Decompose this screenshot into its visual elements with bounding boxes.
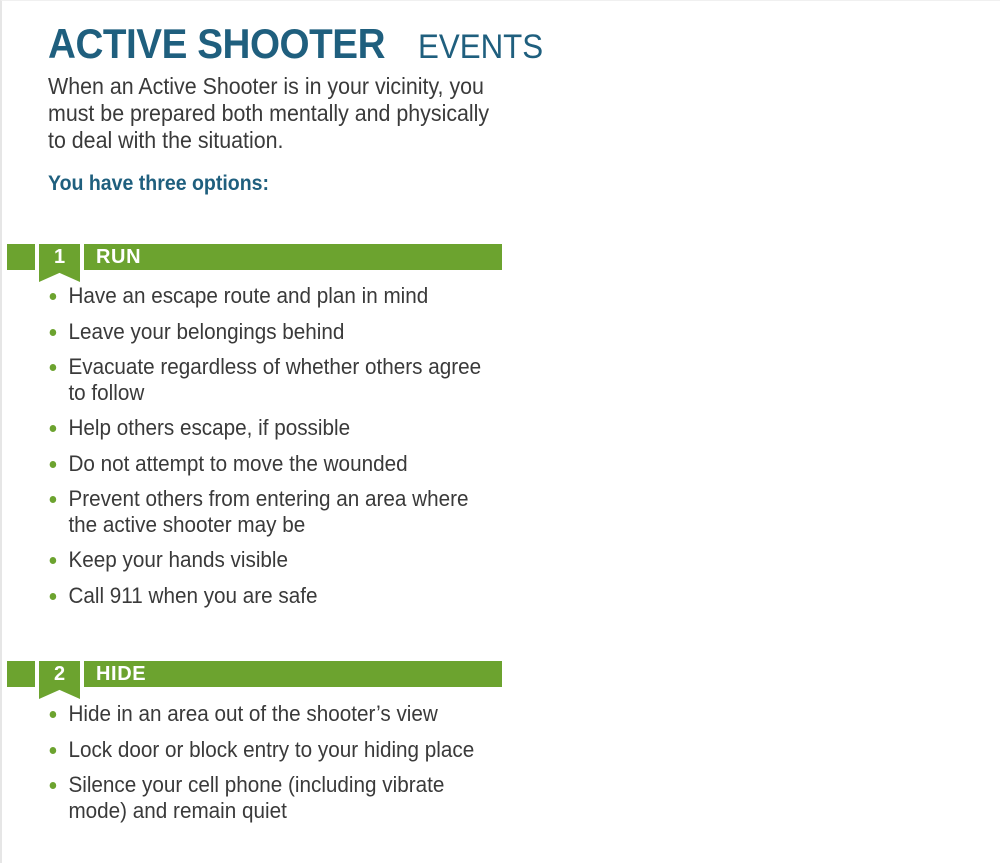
- list-item: Call 911 when you are safe: [44, 583, 486, 609]
- section-header-hide: 2 HIDE: [2, 661, 502, 687]
- section-number-badge-hide: 2: [39, 661, 80, 699]
- bullet-dot-icon: [50, 747, 57, 754]
- options-heading: You have three options:: [48, 172, 462, 196]
- page-subtitle: When an Active Shooter is in your vicini…: [48, 73, 491, 154]
- list-item: Leave your belongings behind: [44, 319, 486, 345]
- right-column: FIGHT 3 Fight as a last resort and only …: [502, 1, 1000, 863]
- bullet-dot-icon: [50, 496, 57, 503]
- list-item: Do not attempt to move the wounded: [44, 451, 486, 477]
- bullet-dot-icon: [50, 593, 57, 600]
- list-item-text: Lock door or block entry to your hiding …: [68, 737, 474, 762]
- list-item: Lock door or block entry to your hiding …: [44, 737, 486, 763]
- section-header-run: 1 RUN: [2, 244, 502, 270]
- bullet-dot-icon: [50, 329, 57, 336]
- bullet-dot-icon: [50, 711, 57, 718]
- list-item-text: Silence your cell phone (including vibra…: [68, 772, 444, 823]
- list-item: Prevent others from entering an area whe…: [44, 486, 486, 537]
- list-item-text: Prevent others from entering an area whe…: [68, 486, 468, 537]
- bullet-list-run: Have an escape route and plan in mind Le…: [44, 283, 514, 618]
- bullet-dot-icon: [50, 557, 57, 564]
- infographic-page: ACTIVE SHOOTEREVENTS When an Active Shoo…: [0, 0, 1000, 863]
- list-item-text: Hide in an area out of the shooter’s vie…: [68, 701, 437, 726]
- list-item: Evacuate regardless of whether others ag…: [44, 354, 486, 405]
- list-item-text: Help others escape, if possible: [68, 415, 350, 440]
- list-item-text: Do not attempt to move the wounded: [68, 451, 407, 476]
- list-item: Silence your cell phone (including vibra…: [44, 772, 486, 823]
- accent-square-icon: [7, 244, 35, 270]
- list-item-text: Call 911 when you are safe: [68, 583, 317, 608]
- section-label-hide: HIDE: [84, 661, 502, 687]
- list-item-text: Have an escape route and plan in mind: [68, 283, 428, 308]
- bullet-dot-icon: [50, 461, 57, 468]
- list-item-text: Keep your hands visible: [68, 547, 288, 572]
- bullet-dot-icon: [50, 364, 57, 371]
- bullet-list-hide: Hide in an area out of the shooter’s vie…: [44, 701, 514, 833]
- page-title: ACTIVE SHOOTEREVENTS: [48, 23, 493, 65]
- list-item: Keep your hands visible: [44, 547, 486, 573]
- page-title-strong: ACTIVE SHOOTER: [48, 23, 385, 65]
- accent-square-icon: [7, 661, 35, 687]
- section-number-badge-run: 1: [39, 244, 80, 282]
- list-item-text: Evacuate regardless of whether others ag…: [68, 354, 481, 405]
- bullet-dot-icon: [50, 782, 57, 789]
- bullet-dot-icon: [50, 293, 57, 300]
- list-item: Hide in an area out of the shooter’s vie…: [44, 701, 486, 727]
- section-label-run: RUN: [84, 244, 502, 270]
- bullet-dot-icon: [50, 425, 57, 432]
- list-item-text: Leave your belongings behind: [68, 319, 344, 344]
- list-item: Have an escape route and plan in mind: [44, 283, 486, 309]
- list-item: Help others escape, if possible: [44, 415, 486, 441]
- title-block: ACTIVE SHOOTEREVENTS When an Active Shoo…: [48, 23, 493, 196]
- left-column: ACTIVE SHOOTEREVENTS When an Active Shoo…: [2, 1, 502, 863]
